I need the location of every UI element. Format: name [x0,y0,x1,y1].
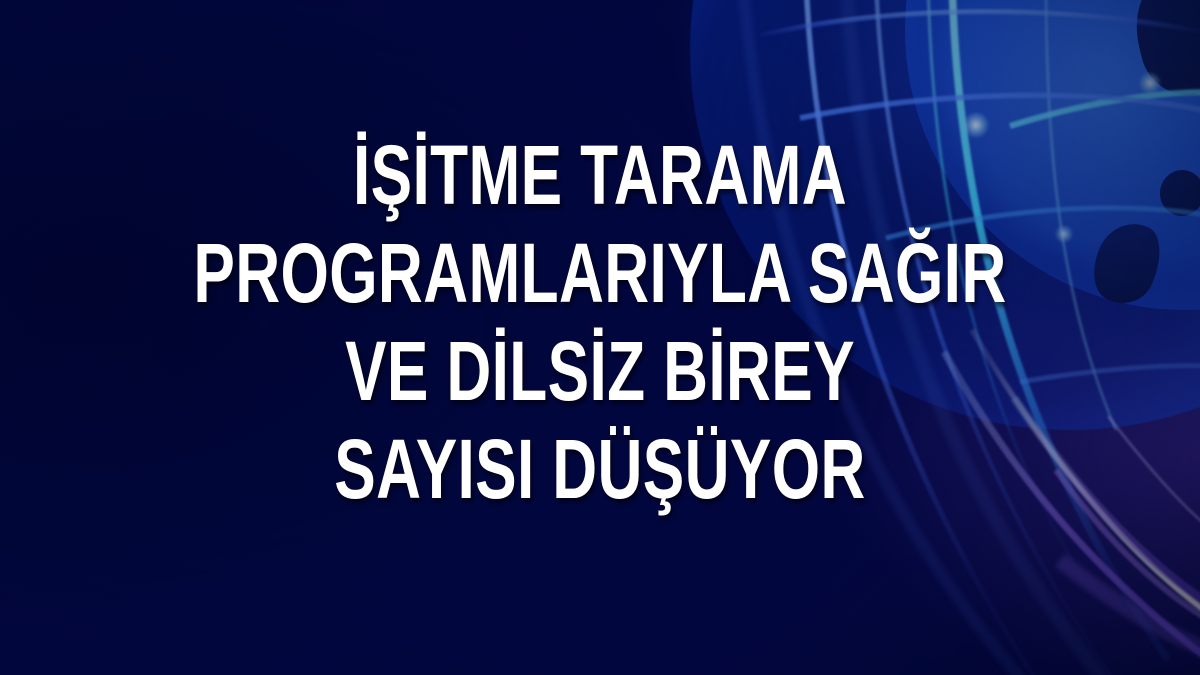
headline-line-1: İŞİTME TARAMA [156,126,1044,224]
headline-line-4: SAYISI DÜŞÜYOR [156,420,1044,518]
headline-line-2: PROGRAMLARIYLA SAĞIR [156,224,1044,322]
headline-graphic: İŞİTME TARAMA PROGRAMLARIYLA SAĞIR VE Dİ… [0,0,1200,675]
headline-text: İŞİTME TARAMA PROGRAMLARIYLA SAĞIR VE Dİ… [156,126,1044,518]
headline-line-3: VE DİLSİZ BİREY [156,322,1044,420]
